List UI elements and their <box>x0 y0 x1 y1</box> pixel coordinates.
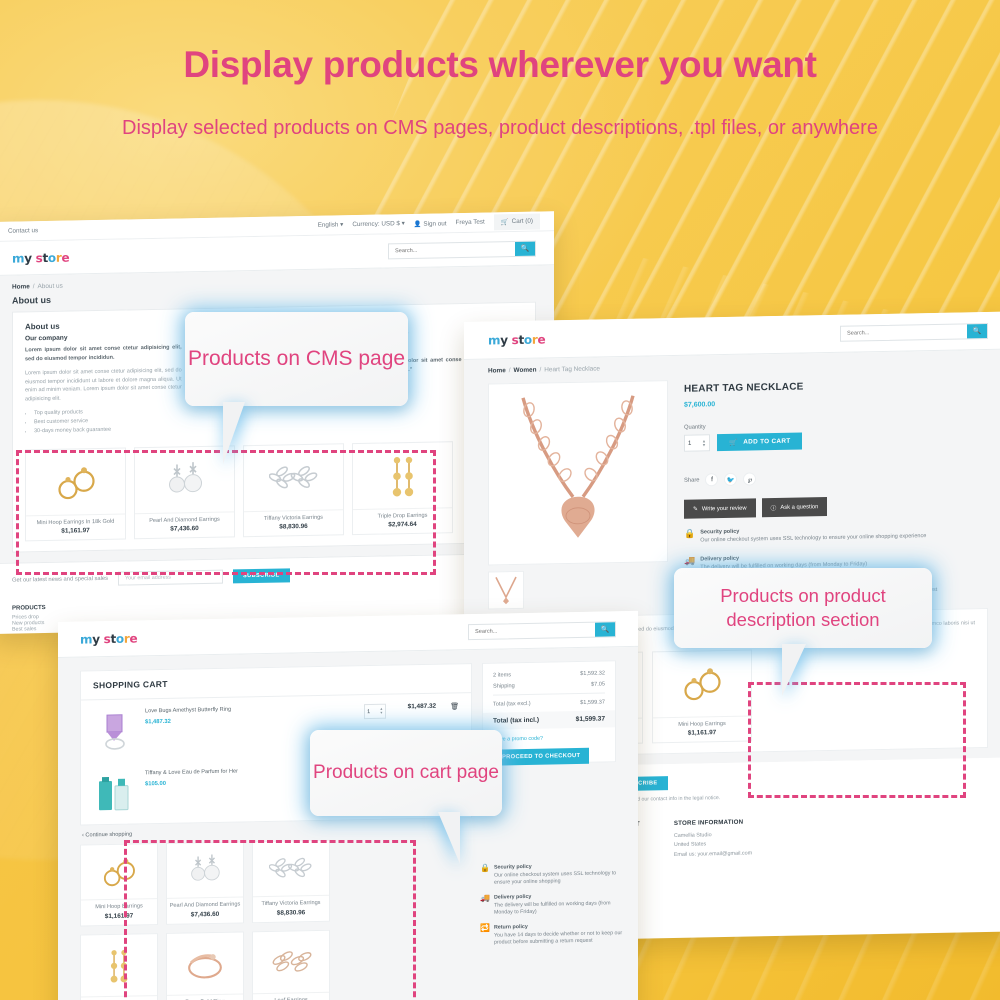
page-subtitle: Display selected products on CMS pages, … <box>85 112 915 145</box>
flower-earrings-icon <box>253 841 329 897</box>
product-price: $7,600.00 <box>684 396 988 409</box>
product-thumbnail[interactable] <box>488 571 524 610</box>
search-icon[interactable]: 🔍 <box>515 241 535 255</box>
product-price: $8,830.96 <box>244 523 343 537</box>
product-price: $7,436.60 <box>167 910 243 923</box>
store-email[interactable]: Email us: your.email@gmail.com <box>674 849 752 860</box>
cart-icon: 🛒 <box>729 438 737 446</box>
cms-bullet-list: Top quality products Best customer servi… <box>34 406 182 435</box>
list-item: 30-days money back guarantee <box>34 424 182 436</box>
write-review-button[interactable]: ✎Write your review <box>684 498 756 518</box>
summary-row: Shipping$7.05 <box>493 681 605 689</box>
product-card[interactable]: Tiffany Victoria Earrings $8,830.96 <box>252 840 330 923</box>
return-policy: 🔁 Return policyYou have 14 days to decid… <box>480 922 630 948</box>
leaf-earrings-icon <box>253 931 329 994</box>
share-row: Share f 🐦 ℘ <box>684 468 988 487</box>
search-icon[interactable]: 🔍 <box>595 622 615 636</box>
cart-item-name[interactable]: Love Bugs Amethyst Butterfly Ring <box>145 704 356 716</box>
product-card[interactable]: Mini Hoop Earrings In 18k Gold $1,161.97 <box>25 448 126 542</box>
lock-icon: 🔒 <box>684 530 695 546</box>
breadcrumb-category[interactable]: Women <box>514 367 537 374</box>
return-policy-text: You have 14 days to decide whether or no… <box>494 930 622 946</box>
search-box[interactable]: 🔍 <box>468 621 616 640</box>
product-name: Triple Drop Earrings <box>81 995 157 1000</box>
search-input[interactable] <box>389 241 515 257</box>
twitter-icon[interactable]: 🐦 <box>724 473 737 486</box>
proceed-to-checkout-button[interactable]: PROCEED TO CHECKOUT <box>493 748 589 766</box>
drop-earrings-icon <box>353 443 452 509</box>
ask-question-button[interactable]: ⓘAsk a question <box>762 497 828 517</box>
callout-cms: Products on CMS page <box>185 312 408 406</box>
cart-policies: 🔒 Security policyOur online checkout sys… <box>480 862 630 955</box>
security-policy: 🔒 Security policyOur online checkout sys… <box>480 862 630 888</box>
product-card[interactable]: Pearl And Diamond Earrings $7,436.60 <box>134 446 235 540</box>
cms-col1-p2: Lorem ipsum dolor sit amet conse ctetur … <box>25 366 182 403</box>
product-thumbnails <box>488 568 668 609</box>
language-selector[interactable]: English ▾ <box>318 221 344 228</box>
product-price: $1,161.97 <box>653 729 751 743</box>
product-price: $1,161.97 <box>81 912 157 925</box>
product-card[interactable]: Pearl And Diamond Earrings $7,436.60 <box>166 841 244 924</box>
callout-cart-label: Products on cart page <box>313 761 499 786</box>
breadcrumb-home[interactable]: Home <box>12 283 30 290</box>
page-title: Display products wherever you want <box>0 44 1000 86</box>
total-value: $1,599.37 <box>576 715 605 723</box>
currency-selector[interactable]: Currency: USD $ ▾ <box>352 220 405 228</box>
sign-out-link[interactable]: 👤 Sign out <box>414 219 447 228</box>
delivery-policy-text: The delivery will be fulfilled on workin… <box>494 900 611 916</box>
footer-heading: STORE INFORMATION <box>674 818 752 827</box>
product-card[interactable]: Mini Hoop Earrings $1,161.97 <box>652 650 752 744</box>
hoop-earrings-icon <box>81 844 157 900</box>
facebook-icon[interactable]: f <box>705 473 718 486</box>
quantity-stepper[interactable]: 1 ▲▼ <box>684 434 710 451</box>
cart-item-quantity[interactable]: 1 ▲▼ <box>364 704 386 719</box>
callout-product: Products on product description section <box>674 568 932 648</box>
product-card[interactable]: Leaf Earrings <box>252 930 330 1000</box>
summary-total-row: Total (tax incl.)$1,599.37 <box>483 710 615 730</box>
search-icon[interactable]: 🔍 <box>967 323 987 337</box>
product-name: Tiffany Victoria Earrings <box>253 895 329 910</box>
store-logo[interactable]: my store <box>12 250 69 265</box>
callout-cms-label: Products on CMS page <box>188 345 405 372</box>
product-price: $2,974.64 <box>353 521 452 535</box>
stepper-arrows-icon[interactable]: ▲▼ <box>380 708 383 715</box>
stepper-arrows-icon[interactable]: ▲▼ <box>702 439 706 447</box>
account-name[interactable]: Freya Test <box>456 219 485 227</box>
product-card[interactable]: Triple Drop Earrings $2,974.64 <box>352 442 453 536</box>
cms-product-strip: Mini Hoop Earrings In 18k Gold $1,161.97… <box>25 440 523 542</box>
hoop-earrings-icon <box>26 449 125 515</box>
newsletter-text: Get our latest news and special sales <box>12 576 108 584</box>
pearl-earrings-icon <box>135 447 234 513</box>
rose-ring-icon <box>167 932 243 995</box>
product-main-image[interactable] <box>488 380 668 565</box>
cart-item-total: $1,487.32 <box>394 703 436 711</box>
summary-value: $7.05 <box>591 681 605 687</box>
cart-button[interactable]: 🛒 Cart (0) <box>494 213 540 230</box>
search-input[interactable] <box>469 622 595 638</box>
add-to-cart-button[interactable]: 🛒 ADD TO CART <box>717 433 802 452</box>
share-label: Share <box>684 477 699 483</box>
product-card[interactable]: Tiffany Victoria Earrings $8,830.96 <box>243 444 344 538</box>
subscribe-button[interactable]: SUBSCRIBE <box>233 569 290 584</box>
trash-icon[interactable]: 🗑 <box>450 702 459 710</box>
cart-page-body: SHOPPING CART Love Bugs Amethyst Butterf… <box>58 647 638 1000</box>
breadcrumb-current: About us <box>38 283 63 290</box>
pencil-icon: ✎ <box>693 506 698 512</box>
breadcrumb-sep: / <box>33 283 35 290</box>
flower-earrings-icon <box>244 445 343 511</box>
product-name: Pearl And Diamond Earrings <box>167 897 243 912</box>
truck-icon: 🚚 <box>480 895 490 918</box>
summary-label: 2 items <box>493 672 511 678</box>
search-box[interactable]: 🔍 <box>388 240 536 259</box>
callout-cart: Products on cart page <box>310 730 502 816</box>
summary-row: 2 items$1,592.32 <box>493 670 605 678</box>
product-name: Rose Gold Ring <box>167 994 243 1000</box>
return-icon: 🔁 <box>480 925 490 948</box>
add-to-cart-label: ADD TO CART <box>743 438 790 446</box>
info-icon: ⓘ <box>771 503 777 512</box>
cms-col-1: Our company Lorem ipsum dolor sit amet c… <box>25 332 182 435</box>
product-price: $1,161.97 <box>26 527 125 541</box>
cms-col1-p1: Lorem ipsum dolor sit amet conse ctetur … <box>25 343 182 363</box>
security-policy-text: Our online checkout system uses SSL tech… <box>494 870 616 886</box>
footer-column-store-information: STORE INFORMATION Camellia Studio United… <box>674 818 752 906</box>
summary-label: Shipping <box>493 683 515 689</box>
cart-item-price: $1,487.32 <box>145 715 356 725</box>
newsletter-email-input[interactable]: Your email address <box>118 570 223 586</box>
product-title: HEART TAG NECKLACE <box>684 378 988 395</box>
product-card[interactable]: Triple Drop Earrings <box>80 933 158 1000</box>
callout-product-label: Products on product description section <box>674 584 932 632</box>
product-name: Mini Hoop Earrings <box>81 898 157 913</box>
contact-us-link[interactable]: Contact us <box>8 222 318 235</box>
hoop-earrings-icon <box>653 651 751 717</box>
summary-value: $1,592.32 <box>580 670 605 676</box>
breadcrumb-home[interactable]: Home <box>488 367 506 374</box>
breadcrumb-current: Heart Tag Necklace <box>544 365 600 373</box>
product-price: $7,436.60 <box>135 525 234 539</box>
summary-label: Total (tax excl.) <box>493 701 531 708</box>
promo-code-link[interactable]: Have a promo code? <box>493 734 605 742</box>
search-box[interactable]: 🔍 <box>840 322 988 341</box>
search-input[interactable] <box>841 324 967 340</box>
security-policy: 🔒 Security policyOur online checkout sys… <box>684 524 988 546</box>
quantity-value: 1 <box>688 440 691 446</box>
drop-earrings-icon <box>81 934 157 997</box>
pearl-earrings-icon <box>167 842 243 898</box>
summary-row: Total (tax excl.)$1,599.37 <box>493 692 605 707</box>
product-card[interactable]: Mini Hoop Earrings $1,161.97 <box>80 843 158 926</box>
lock-icon: 🔒 <box>480 865 490 888</box>
perfume-bottle-icon <box>93 770 137 815</box>
hero-header: Display products wherever you want Displ… <box>0 0 1000 215</box>
product-gallery <box>488 380 668 609</box>
pinterest-icon[interactable]: ℘ <box>743 472 756 485</box>
product-card[interactable]: Rose Gold Ring <box>166 931 244 1000</box>
store-logo[interactable]: my store <box>80 631 137 646</box>
amethyst-ring-icon <box>93 708 137 753</box>
product-name: Leaf Earrings <box>253 992 329 1000</box>
summary-value: $1,599.37 <box>580 699 605 705</box>
cart-summary-panel: 2 items$1,592.32 Shipping$7.05 Total (ta… <box>482 660 616 765</box>
total-label: Total (tax incl.) <box>493 717 539 725</box>
cms-col1-heading: Our company <box>25 332 182 342</box>
delivery-policy: 🚚 Delivery policyThe delivery will be fu… <box>480 892 630 918</box>
product-price: $8,830.96 <box>253 909 329 922</box>
callout-tail <box>782 644 806 696</box>
callout-tail <box>438 812 460 864</box>
callout-tail <box>223 402 245 464</box>
store-logo[interactable]: my store <box>488 332 545 347</box>
